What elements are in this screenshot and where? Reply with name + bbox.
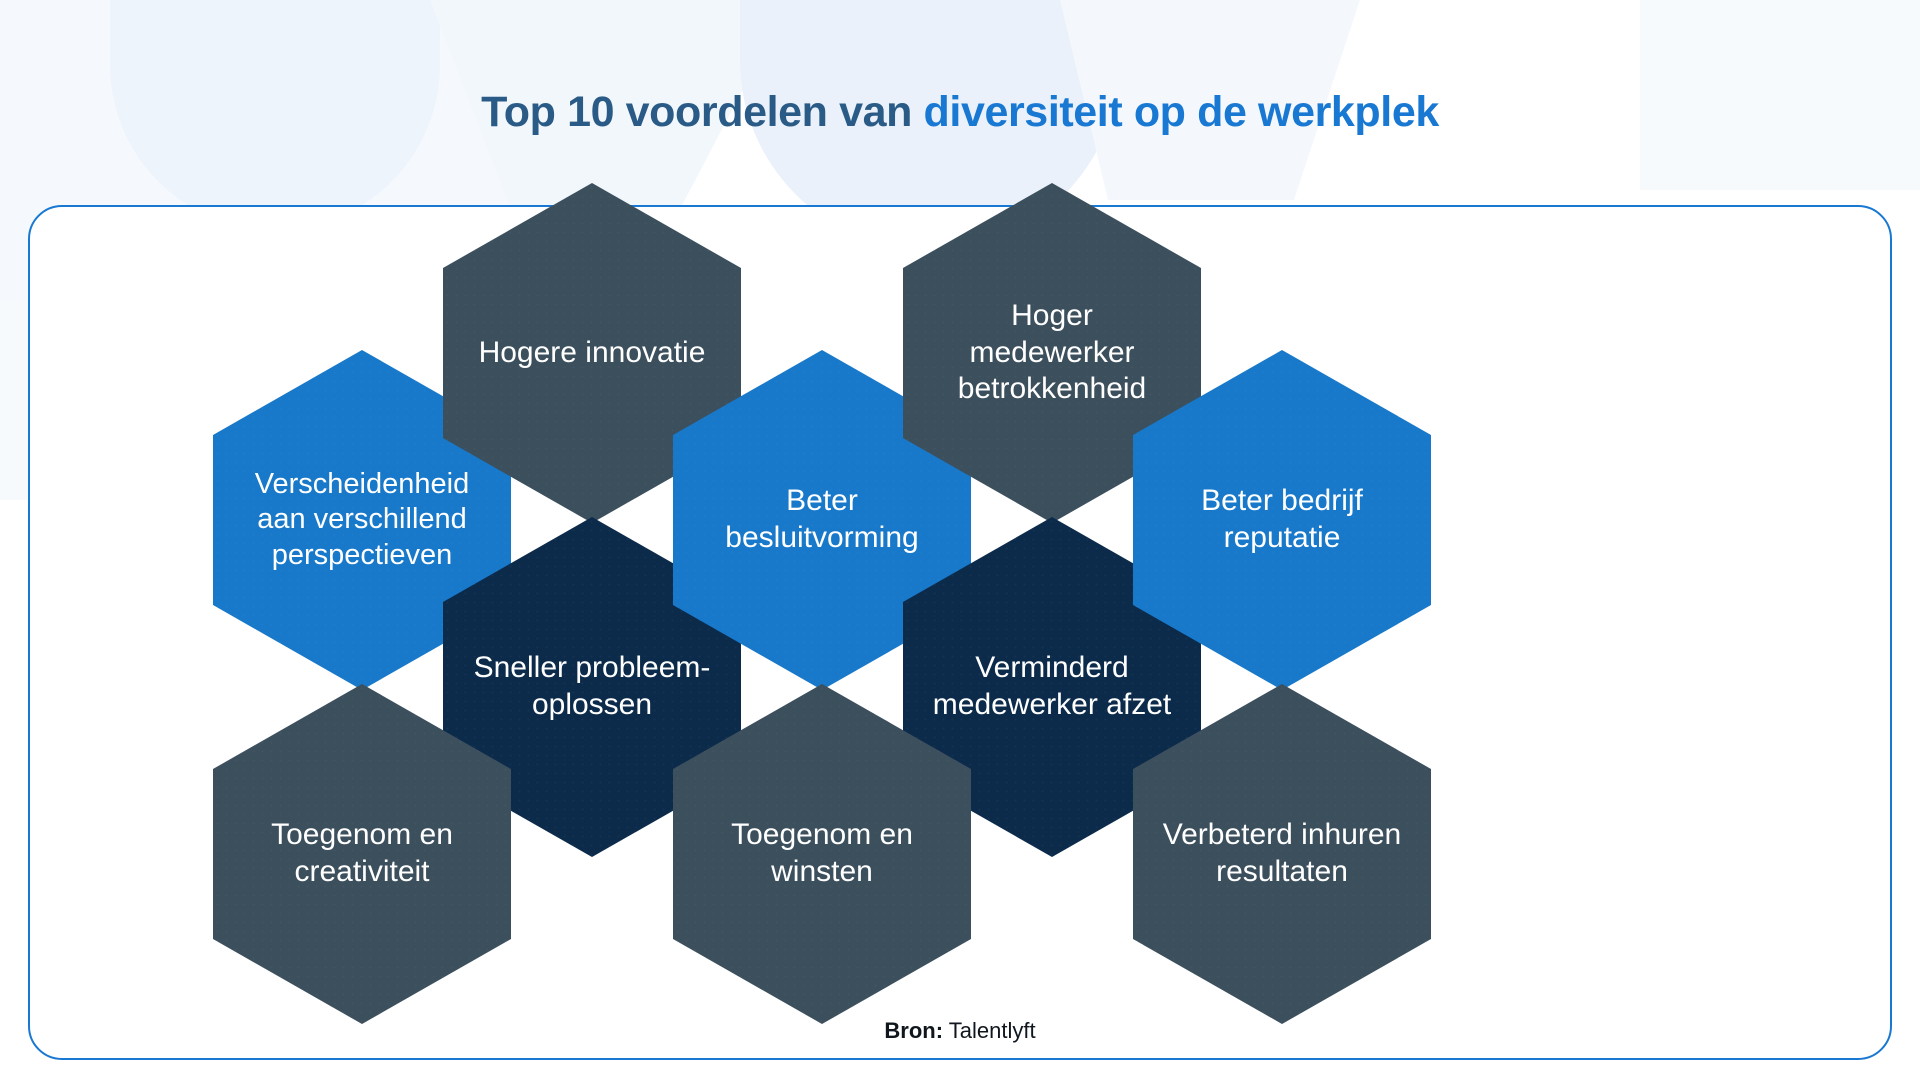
hex-reputatie-label: Beter bedrijf reputatie [1159,483,1405,557]
page-title-part-2: diversiteit op de werkplek [924,88,1439,136]
page-title: Top 10 voordelen van diversiteit op de w… [0,88,1920,137]
hex-verscheidenheid-label: Verscheidenheid aan verschillend perspec… [239,467,485,574]
hex-besluitvorming-label: Beter besluitvorming [699,483,945,557]
hex-winsten-label: Toegenom en winsten [699,817,945,891]
hex-betrokkenheid-label: Hoger medewerker betrokkenheid [929,298,1175,409]
hex-probleem-label: Sneller probleem-oplossen [469,650,715,724]
source-name: Talentlyft [949,1018,1036,1043]
honeycomb-grid: Verscheidenheid aan verschillend perspec… [30,207,1894,1007]
source-prefix: Bron: [884,1018,943,1043]
hex-inhuren-label: Verbeterd inhuren resultaten [1159,817,1405,891]
source-attribution: Bron: Talentlyft [0,1018,1920,1044]
infographic-card: Verscheidenheid aan verschillend perspec… [28,205,1892,1060]
hex-creativiteit-label: Toegenom en creativiteit [239,817,485,891]
hex-innovatie-label: Hogere innovatie [469,335,715,372]
hex-afzet-label: Verminderd medewerker afzet [929,650,1175,724]
page-title-part-1: Top 10 voordelen van [481,88,923,136]
